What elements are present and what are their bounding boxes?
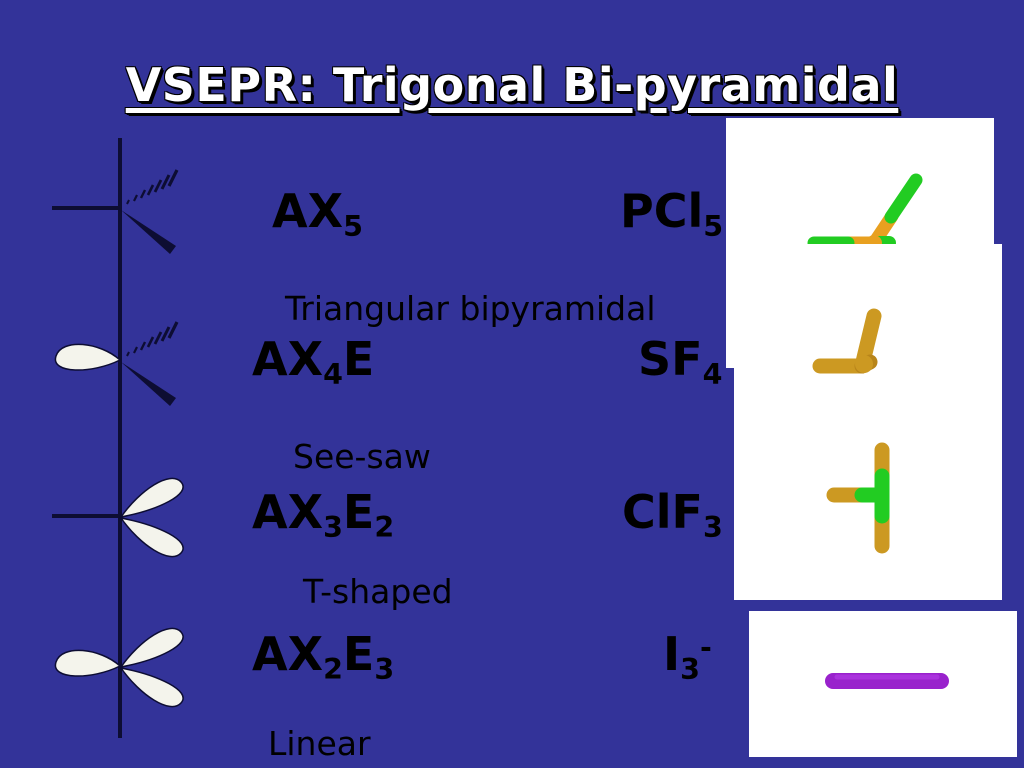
formula-ax3e2-tail: E — [343, 485, 374, 539]
molecule-formula-i3: I3- — [663, 631, 712, 677]
molecule-formula-sf4-base: SF — [638, 332, 703, 386]
molecule-i3-drawing — [749, 611, 1017, 757]
orbital-diagram-ax4e — [48, 282, 228, 452]
formula-ax4e-sub: 4 — [323, 358, 343, 391]
molecule-formula-clf3-sub: 3 — [703, 511, 723, 544]
formula-ax4e-tail: E — [343, 332, 374, 386]
molecule-clf3-drawing — [734, 400, 1002, 600]
lone-pair-lobe-up-right — [121, 478, 183, 517]
molecule-image-panel-clf3 — [734, 400, 1002, 600]
hashed-wedge-up-right — [127, 170, 177, 204]
formula-ax3e2-base: AX — [252, 485, 323, 539]
shape-name-triangular-bipyramidal: Triangular bipyramidal — [285, 292, 656, 325]
molecule-formula-pcl5-sub: 5 — [703, 210, 723, 243]
orbital-diagram-ax2e3 — [48, 588, 228, 758]
solid-wedge-down-right — [121, 362, 176, 406]
molecule-formula-clf3-base: ClF — [622, 485, 703, 539]
orbital-diagram-ax5 — [48, 130, 228, 300]
lone-pair-lobe-left — [55, 650, 120, 676]
hashed-wedge-up-right — [127, 322, 177, 356]
formula-ax2e3-tail: E — [343, 627, 374, 681]
formula-ax3e2: AX3E2 — [252, 489, 394, 535]
lone-pair-lobe-down-right — [121, 668, 183, 707]
formula-ax2e3-tail-sub: 3 — [374, 653, 394, 686]
solid-wedge-down-right — [121, 210, 176, 254]
molecule-formula-i3-charge: - — [700, 631, 712, 664]
page-title: VSEPR: Trigonal Bi-pyramidal — [0, 58, 1024, 112]
shape-name-see-saw: See-saw — [293, 440, 431, 473]
shape-name-linear: Linear — [268, 727, 371, 760]
slide-canvas: VSEPR: Trigonal Bi-pyramidal — [0, 0, 1024, 768]
formula-ax5-base: AX — [272, 184, 343, 238]
formula-ax4e: AX4E — [252, 336, 374, 382]
shape-name-t-shaped: T-shaped — [303, 575, 453, 608]
orbital-diagram-ax3e2 — [48, 438, 228, 608]
formula-ax3e2-tail-sub: 2 — [374, 511, 394, 544]
formula-ax4e-base: AX — [252, 332, 323, 386]
molecule-formula-pcl5: PCl5 — [620, 188, 723, 234]
formula-ax2e3: AX2E3 — [252, 631, 394, 677]
lone-pair-lobe-left — [55, 344, 120, 370]
molecule-formula-sf4: SF4 — [638, 336, 722, 382]
formula-ax2e3-base: AX — [252, 627, 323, 681]
formula-ax2e3-sub: 2 — [323, 653, 343, 686]
formula-ax3e2-sub: 3 — [323, 511, 343, 544]
molecule-formula-sf4-sub: 4 — [703, 358, 723, 391]
lone-pair-lobe-down-right — [121, 518, 183, 557]
molecule-formula-clf3: ClF3 — [622, 489, 723, 535]
page-title-text: VSEPR: Trigonal Bi-pyramidal — [126, 58, 899, 112]
lone-pair-lobe-up-right — [121, 628, 183, 667]
molecule-formula-i3-sub: 3 — [680, 653, 700, 686]
formula-ax5-sub: 5 — [343, 210, 363, 243]
molecule-formula-i3-base: I — [663, 627, 680, 681]
formula-ax5: AX5 — [272, 188, 363, 234]
molecule-formula-pcl5-base: PCl — [620, 184, 703, 238]
molecule-image-panel-i3 — [749, 611, 1017, 757]
